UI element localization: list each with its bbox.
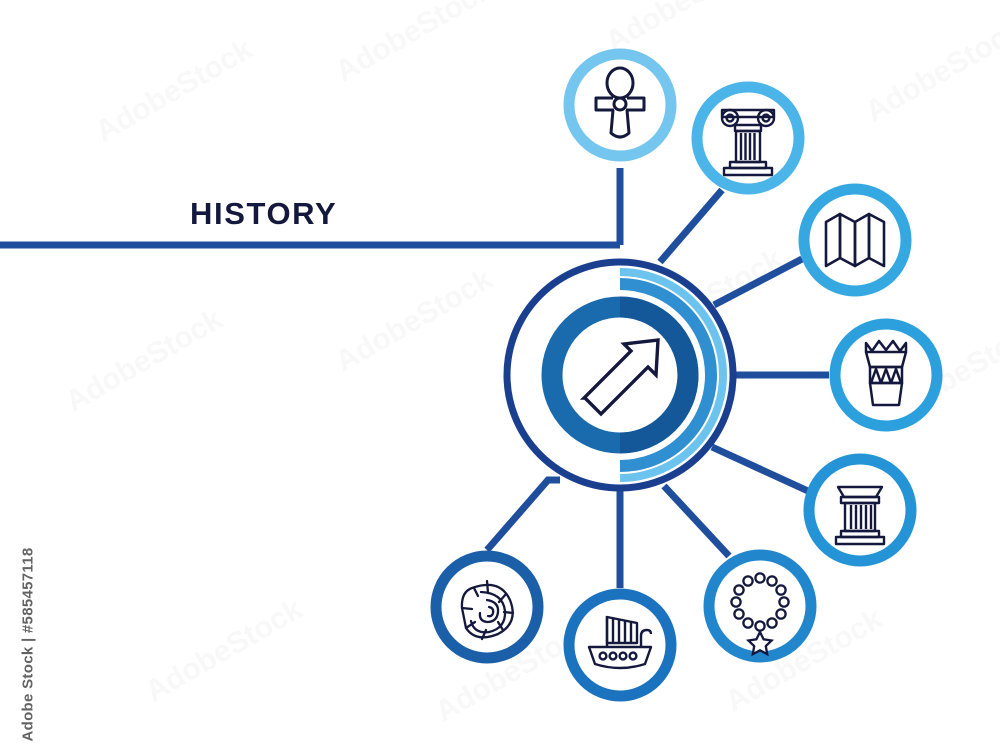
connector-hub-to-ionic-column <box>660 190 722 262</box>
connector-hub-to-beaded-necklace <box>664 486 729 556</box>
watermark-vertical: Adobe Stock | #585457118 <box>20 482 37 742</box>
page-title: HISTORY <box>190 198 337 229</box>
node-viking-ship[interactable] <box>569 594 671 696</box>
connector-hub-to-folded-map <box>714 259 802 305</box>
node-ammonite-shell-ring <box>436 556 538 658</box>
node-ankh[interactable] <box>569 54 671 156</box>
hub-assembly[interactable] <box>507 262 733 488</box>
node-folded-map[interactable] <box>804 189 906 291</box>
history-infographic-diagram <box>0 0 1000 750</box>
infographic-canvas: AdobeStock AdobeStock AdobeStock AdobeSt… <box>0 0 1000 750</box>
node-ammonite-shell[interactable] <box>436 556 538 658</box>
node-ancient-vase-ring <box>835 324 937 426</box>
node-ionic-column-ring <box>697 87 799 189</box>
node-viking-ship-ring <box>569 594 671 696</box>
node-beaded-necklace[interactable] <box>709 555 811 657</box>
connector-hub-to-ammonite-shell <box>487 480 560 550</box>
node-ionic-column[interactable] <box>697 87 799 189</box>
node-ancient-vase[interactable] <box>835 324 937 426</box>
node-doric-column[interactable] <box>809 459 911 561</box>
connector-hub-to-doric-column <box>712 447 808 491</box>
